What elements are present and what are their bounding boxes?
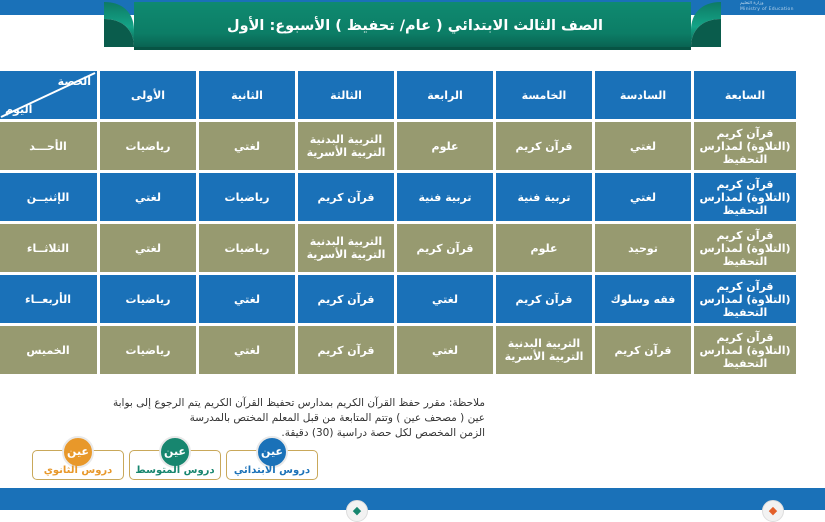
badge-secondary-label: دروس الثانوي bbox=[33, 465, 123, 476]
header-period-3: الثالثة bbox=[298, 71, 394, 119]
subject-cell: رياضيات bbox=[100, 122, 196, 170]
header-period-7: السابعة bbox=[694, 71, 796, 119]
page-title: الصف الثالث الابتدائي ( عام/ تحفيظ ) الأ… bbox=[135, 18, 695, 34]
subject-cell: رياضيات bbox=[100, 326, 196, 374]
subject-cell: قرآن كريم bbox=[298, 173, 394, 221]
subject-cell: لغتي bbox=[397, 275, 493, 323]
subject-cell-tahfeez: قرآن كريم (التلاوة) لمدارس التحفيظ bbox=[694, 224, 796, 272]
subject-cell: علوم bbox=[496, 224, 592, 272]
subject-cell-tahfeez: قرآن كريم (التلاوة) لمدارس التحفيظ bbox=[694, 122, 796, 170]
header-period-4: الرابعة bbox=[397, 71, 493, 119]
badge-primary-lessons[interactable]: عين دروس الابتدائي bbox=[226, 450, 318, 480]
subject-cell: لغتي bbox=[100, 224, 196, 272]
corner-label-period: الحصة bbox=[58, 75, 91, 88]
corner-label-day: اليوم bbox=[5, 103, 32, 116]
schedule-row: قرآن كريم (التلاوة) لمدارس التحفيظفقه وس… bbox=[0, 275, 796, 323]
ien-circle-icon-primary: عين bbox=[256, 436, 288, 468]
subject-cell: لغتي bbox=[199, 122, 295, 170]
schedule-row: قرآن كريم (التلاوة) لمدارس التحفيظلغتيقر… bbox=[0, 122, 796, 170]
bottom-left-circle-icon[interactable]: ◆ bbox=[346, 500, 368, 522]
schedule-row: قرآن كريم (التلاوة) لمدارس التحفيظتوحيدع… bbox=[0, 224, 796, 272]
subject-line-2: التربية الأسرية bbox=[298, 146, 394, 159]
weekly-schedule-table: السابعة السادسة الخامسة الرابعة الثالثة … bbox=[0, 68, 799, 377]
subject-cell: لغتي bbox=[397, 326, 493, 374]
badge-middle-lessons[interactable]: عين دروس المتوسط bbox=[129, 450, 221, 480]
subject-cell-tahfeez: قرآن كريم (التلاوة) لمدارس التحفيظ bbox=[694, 275, 796, 323]
subject-cell: لغتي bbox=[100, 173, 196, 221]
subject-cell: قرآن كريم bbox=[595, 326, 691, 374]
corner-header-cell: الحصة اليوم bbox=[0, 71, 97, 119]
subject-cell-tahfeez: قرآن كريم (التلاوة) لمدارس التحفيظ bbox=[694, 173, 796, 221]
header-ribbon-banner: الصف الثالث الابتدائي ( عام/ تحفيظ ) الأ… bbox=[0, 0, 825, 58]
schedule-row: قرآن كريم (التلاوة) لمدارس التحفيظقرآن ك… bbox=[0, 326, 796, 374]
badge-secondary-lessons[interactable]: عين دروس الثانوي bbox=[32, 450, 124, 480]
schedule-row: قرآن كريم (التلاوة) لمدارس التحفيظلغتيتر… bbox=[0, 173, 796, 221]
subject-cell: قرآن كريم bbox=[298, 275, 394, 323]
subject-cell: علوم bbox=[397, 122, 493, 170]
note-line-2: عين ( مصحف عين ) وتتم المتابعة من قبل ال… bbox=[17, 411, 485, 426]
bottom-right-circle-icon[interactable]: ◆ bbox=[762, 500, 784, 522]
subject-cell: لغتي bbox=[199, 275, 295, 323]
subject-cell: قرآن كريم bbox=[397, 224, 493, 272]
header-period-6: السادسة bbox=[595, 71, 691, 119]
subject-cell: لغتي bbox=[595, 122, 691, 170]
subject-cell: قرآن كريم bbox=[496, 122, 592, 170]
header-period-2: الثانية bbox=[199, 71, 295, 119]
subject-cell: رياضيات bbox=[100, 275, 196, 323]
subject-cell: رياضيات bbox=[199, 224, 295, 272]
subject-cell: رياضيات bbox=[199, 173, 295, 221]
day-cell: الأربعــاء bbox=[0, 275, 97, 323]
subject-line-1: التربية البدنية bbox=[298, 235, 394, 248]
subject-cell-pe: التربية البدنيةالتربية الأسرية bbox=[298, 224, 394, 272]
subject-line-1: التربية البدنية bbox=[496, 337, 592, 350]
day-cell: الأحـــد bbox=[0, 122, 97, 170]
subject-cell: فقه وسلوك bbox=[595, 275, 691, 323]
subject-line-2: التربية الأسرية bbox=[298, 248, 394, 261]
badge-primary-label: دروس الابتدائي bbox=[227, 465, 317, 476]
subject-cell: لغتي bbox=[199, 326, 295, 374]
bottom-blue-bar: ◆ ◆ bbox=[0, 488, 825, 510]
header-period-1: الأولى bbox=[100, 71, 196, 119]
subject-cell-pe: التربية البدنيةالتربية الأسرية bbox=[298, 122, 394, 170]
ien-circle-icon-middle: عين bbox=[159, 436, 191, 468]
subject-cell-tahfeez: قرآن كريم (التلاوة) لمدارس التحفيظ bbox=[694, 326, 796, 374]
ien-portal-badges: عين دروس الابتدائي عين دروس المتوسط عين … bbox=[28, 434, 338, 490]
day-cell: الإثنيــن bbox=[0, 173, 97, 221]
subject-cell: قرآن كريم bbox=[298, 326, 394, 374]
note-line-1: ملاحظة: مقرر حفظ القرآن الكريم بمدارس تح… bbox=[17, 396, 485, 411]
subject-line-1: التربية البدنية bbox=[298, 133, 394, 146]
day-cell: الخميس bbox=[0, 326, 97, 374]
ien-circle-icon-secondary: عين bbox=[62, 436, 94, 468]
subject-cell: توحيد bbox=[595, 224, 691, 272]
header-period-5: الخامسة bbox=[496, 71, 592, 119]
subject-line-2: التربية الأسرية bbox=[496, 350, 592, 363]
subject-cell: تربية فنية bbox=[496, 173, 592, 221]
subject-cell: تربية فنية bbox=[397, 173, 493, 221]
subject-cell-pe: التربية البدنيةالتربية الأسرية bbox=[496, 326, 592, 374]
subject-cell: لغتي bbox=[595, 173, 691, 221]
badge-middle-label: دروس المتوسط bbox=[130, 465, 220, 476]
schedule-header-row: السابعة السادسة الخامسة الرابعة الثالثة … bbox=[0, 71, 796, 119]
day-cell: الثلاثــاء bbox=[0, 224, 97, 272]
subject-cell: قرآن كريم bbox=[496, 275, 592, 323]
schedule-body: قرآن كريم (التلاوة) لمدارس التحفيظلغتيقر… bbox=[0, 122, 796, 374]
